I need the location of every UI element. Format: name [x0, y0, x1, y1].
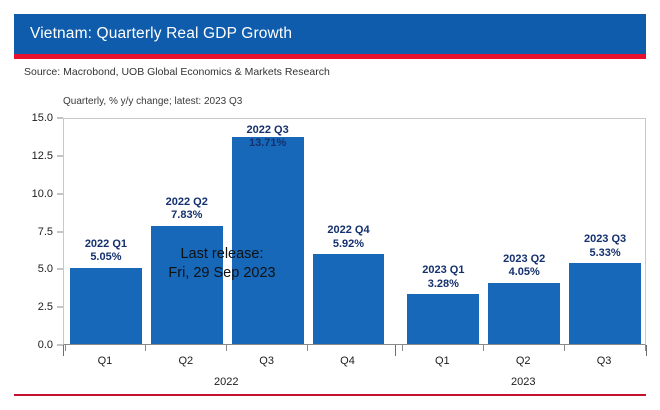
bar-annotation-2022-Q1: 2022 Q15.05% [70, 238, 142, 266]
header-accent-rule [14, 54, 646, 59]
y-tick-label: 2.5 [38, 301, 53, 313]
x-tick-mark [226, 345, 227, 351]
chart-plot-area: 2022 Q15.05%2022 Q27.83%2022 Q313.71%202… [63, 118, 646, 345]
y-tick-label: 10.0 [32, 188, 53, 200]
y-tick-label: 7.5 [38, 226, 53, 238]
bar-period-label: 2022 Q4 [313, 224, 385, 238]
bar-value-label: 5.05% [70, 251, 142, 265]
y-tick-label: 5.0 [38, 263, 53, 275]
x-tick-label-2022-Q1: Q1 [98, 355, 113, 367]
bar-2023-Q1[interactable] [407, 294, 479, 344]
bars-container: 2022 Q15.05%2022 Q27.83%2022 Q313.71%202… [64, 119, 645, 344]
x-tick-label-2023-Q2: Q2 [516, 355, 531, 367]
x-group-tick-mark [63, 345, 64, 356]
page-title: Vietnam: Quarterly Real GDP Growth [30, 25, 292, 43]
x-tick-mark [145, 345, 146, 351]
bar-period-label: 2022 Q1 [70, 238, 142, 252]
x-tick-mark [307, 345, 308, 351]
y-axis: 0.02.55.07.510.012.515.0 [0, 118, 63, 345]
bar-annotation-2023-Q3: 2023 Q35.33% [569, 233, 641, 261]
bar-value-label: 7.83% [151, 209, 223, 223]
x-tick-label-2022-Q4: Q4 [340, 355, 355, 367]
x-tick-mark [65, 345, 66, 351]
bar-2023-Q2[interactable] [488, 283, 560, 344]
x-axis-year-label-2023: 2023 [511, 376, 535, 388]
x-group-tick-mark [395, 345, 396, 356]
x-tick-label-2023-Q3: Q3 [597, 355, 612, 367]
chart-subtitle: Quarterly, % y/y change; latest: 2023 Q3 [63, 96, 242, 107]
footer-accent-rule [14, 394, 646, 396]
x-tick-mark [564, 345, 565, 351]
bar-2022-Q4[interactable] [313, 254, 385, 344]
bar-period-label: 2022 Q2 [151, 196, 223, 210]
bar-value-label: 3.28% [407, 278, 479, 292]
x-axis-year-label-2022: 2022 [214, 376, 238, 388]
x-tick-label-2022-Q3: Q3 [259, 355, 274, 367]
bar-2022-Q3[interactable] [232, 137, 304, 344]
x-axis: Q1Q2Q3Q4Q1Q2Q320222023 [63, 345, 646, 395]
bar-period-label: 2022 Q3 [232, 124, 304, 138]
x-group-tick-mark [646, 345, 647, 356]
bar-annotation-2023-Q2: 2023 Q24.05% [488, 253, 560, 281]
x-tick-label-2022-Q2: Q2 [178, 355, 193, 367]
bar-value-label: 5.92% [313, 238, 385, 252]
bar-value-label: 4.05% [488, 266, 560, 280]
bar-annotation-2022-Q4: 2022 Q45.92% [313, 224, 385, 252]
x-tick-mark [483, 345, 484, 351]
source-attribution: Source: Macrobond, UOB Global Economics … [24, 66, 330, 78]
last-release-line2: Fri, 29 Sep 2023 [168, 265, 275, 281]
y-tick-label: 15.0 [32, 112, 53, 124]
bar-2022-Q2[interactable] [151, 226, 223, 344]
header-band: Vietnam: Quarterly Real GDP Growth [14, 14, 646, 54]
x-tick-mark [402, 345, 403, 351]
last-release-callout: Last release: Fri, 29 Sep 2023 [142, 245, 302, 283]
bar-period-label: 2023 Q2 [488, 253, 560, 267]
bar-period-label: 2023 Q1 [407, 264, 479, 278]
bar-annotation-2022-Q2: 2022 Q27.83% [151, 196, 223, 224]
bar-2023-Q3[interactable] [569, 263, 641, 344]
bar-value-label: 5.33% [569, 247, 641, 261]
bar-annotation-2023-Q1: 2023 Q13.28% [407, 264, 479, 292]
bar-2022-Q1[interactable] [70, 268, 142, 344]
y-tick-label: 0.0 [38, 339, 53, 351]
last-release-line1: Last release: [180, 246, 263, 262]
x-tick-label-2023-Q1: Q1 [435, 355, 450, 367]
y-tick-label: 12.5 [32, 150, 53, 162]
bar-period-label: 2023 Q3 [569, 233, 641, 247]
